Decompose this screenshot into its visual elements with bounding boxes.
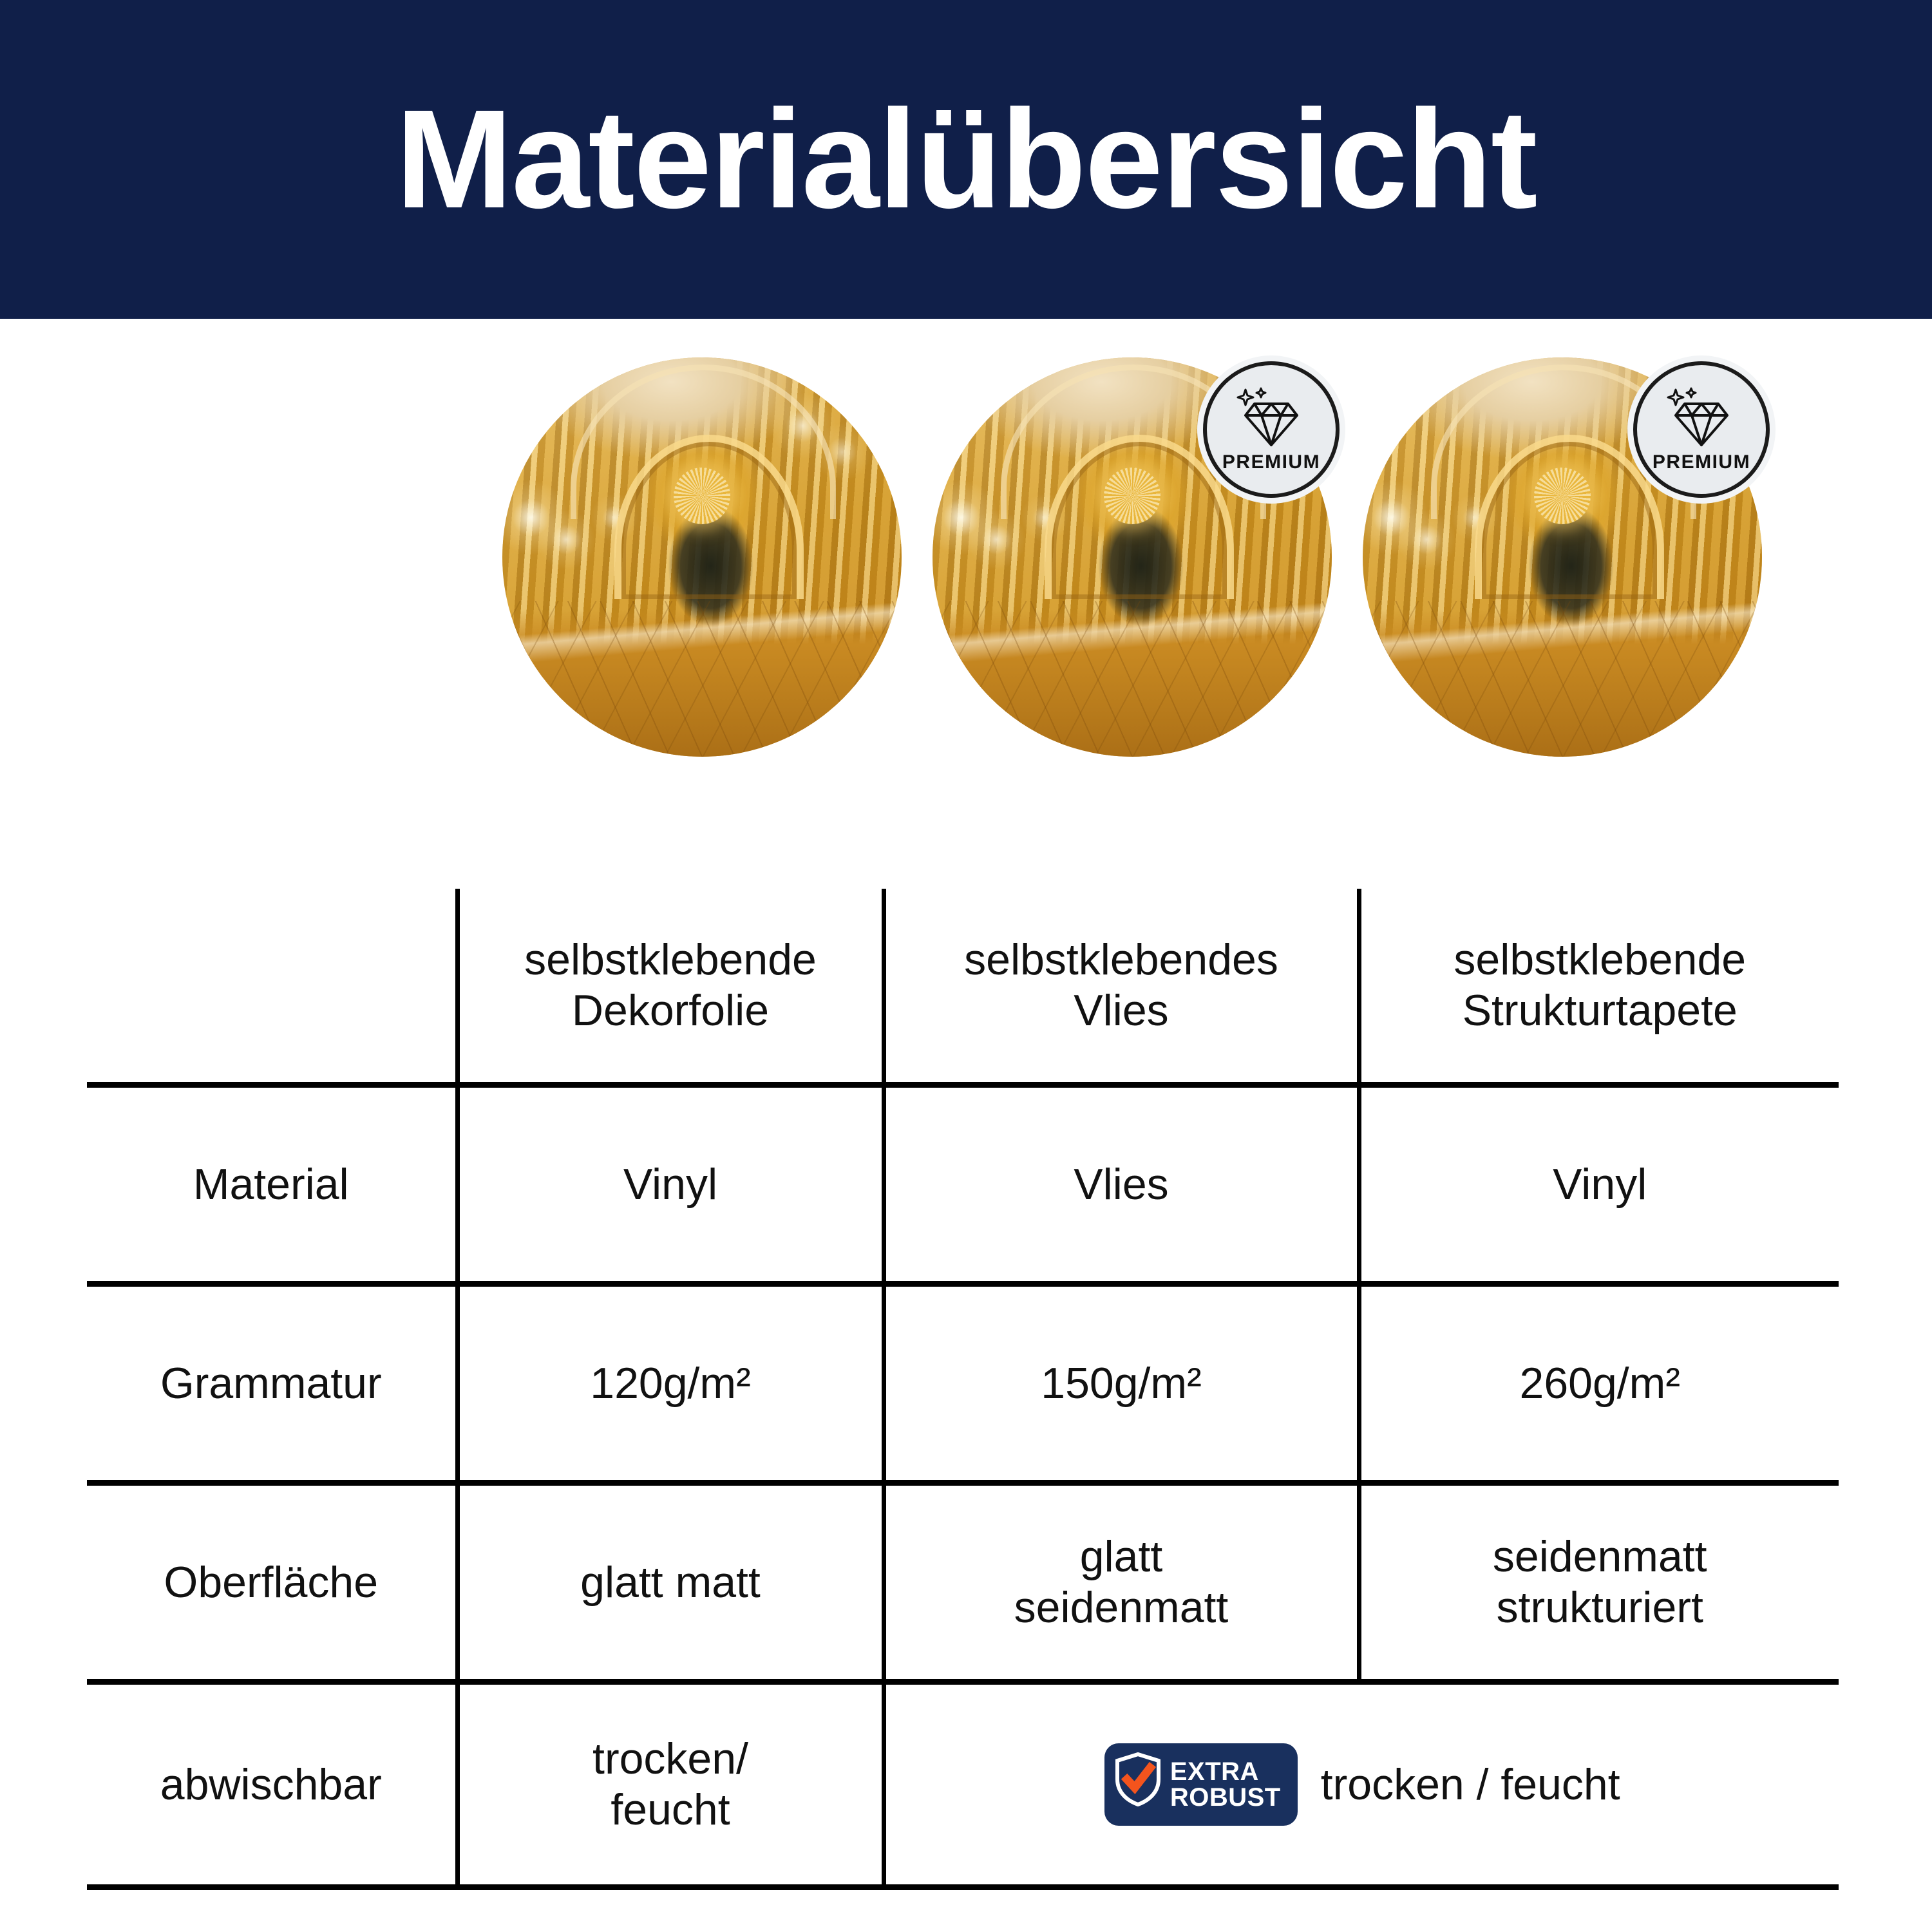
material-comparison-table: selbstklebende Dekorfolie selbstklebende… — [87, 889, 1839, 1890]
cell-oberflaeche-strukturtapete: seidenmatt strukturiert — [1359, 1483, 1839, 1682]
sunburst-medallion-icon — [674, 468, 730, 524]
palace-interior-image — [502, 357, 902, 757]
header-cell-empty — [87, 889, 457, 1085]
value-line-2: seidenmatt — [886, 1582, 1357, 1633]
header-line-2: Vlies — [895, 985, 1348, 1036]
cell-material-dekorfolie: Vinyl — [457, 1085, 884, 1284]
diamond-icon — [1235, 387, 1307, 449]
premium-badge-strukturtapete: PREMIUM — [1633, 361, 1770, 498]
extra-robust-badge: EXTRA ROBUST — [1104, 1743, 1298, 1826]
swatch-dekorfolie[interactable] — [502, 357, 902, 757]
value-line-2: feucht — [460, 1785, 882, 1835]
header-line-1: selbstklebendes — [895, 934, 1348, 985]
robust-line-1: EXTRA — [1170, 1759, 1281, 1785]
value-line-2: strukturiert — [1361, 1582, 1839, 1633]
extra-robust-label: EXTRA ROBUST — [1170, 1759, 1281, 1810]
table-row-oberflaeche: Oberfläche glatt matt glatt seidenmatt s… — [87, 1483, 1839, 1682]
header-cell-strukturtapete: selbstklebende Strukturtapete — [1359, 889, 1839, 1085]
premium-badge-vlies: PREMIUM — [1203, 361, 1340, 498]
row-label-grammatur: Grammatur — [87, 1284, 457, 1483]
value-line-1: trocken/ — [460, 1734, 882, 1785]
robust-line-2: ROBUST — [1170, 1785, 1281, 1810]
row-label-oberflaeche: Oberfläche — [87, 1483, 457, 1682]
header-line-1: selbstklebende — [469, 934, 873, 985]
cell-material-strukturtapete: Vinyl — [1359, 1085, 1839, 1284]
header-cell-vlies: selbstklebendes Vlies — [884, 889, 1359, 1085]
table-row-abwischbar: abwischbar trocken/ feucht — [87, 1682, 1839, 1888]
header-cell-dekorfolie: selbstklebende Dekorfolie — [457, 889, 884, 1085]
value-line-1: seidenmatt — [1361, 1531, 1839, 1582]
diamond-icon — [1665, 387, 1738, 449]
premium-label: PREMIUM — [1222, 453, 1320, 472]
cell-abwischbar-dekorfolie: trocken/ feucht — [457, 1682, 884, 1888]
page-header: Materialübersicht — [0, 0, 1932, 319]
header-line-1: selbstklebende — [1370, 934, 1830, 985]
sunburst-medallion-icon — [1104, 468, 1160, 524]
header-line-2: Dekorfolie — [469, 985, 873, 1036]
cell-grammatur-vlies: 150g/m² — [884, 1284, 1359, 1483]
cell-oberflaeche-vlies: glatt seidenmatt — [884, 1483, 1359, 1682]
shield-check-icon — [1115, 1752, 1161, 1817]
cell-grammatur-dekorfolie: 120g/m² — [457, 1284, 884, 1483]
cell-abwischbar-vlies-strukturtapete: EXTRA ROBUST trocken / feucht — [884, 1682, 1839, 1888]
cell-grammatur-strukturtapete: 260g/m² — [1359, 1284, 1839, 1483]
page-title: Materialübersicht — [395, 90, 1536, 230]
value-abwischbar-trocken-feucht: trocken / feucht — [1321, 1759, 1620, 1810]
premium-label: PREMIUM — [1653, 453, 1750, 472]
table-header-row: selbstklebende Dekorfolie selbstklebende… — [87, 889, 1839, 1085]
table-row-material: Material Vinyl Vlies Vinyl — [87, 1085, 1839, 1284]
material-swatch-strip: PREMIUM PREMIUM — [0, 351, 1932, 776]
row-label-material: Material — [87, 1085, 457, 1284]
header-line-2: Strukturtapete — [1370, 985, 1830, 1036]
value-line-1: glatt — [886, 1531, 1357, 1582]
cell-oberflaeche-dekorfolie: glatt matt — [457, 1483, 884, 1682]
cell-material-vlies: Vlies — [884, 1085, 1359, 1284]
sunburst-medallion-icon — [1534, 468, 1591, 524]
row-label-abwischbar: abwischbar — [87, 1682, 457, 1888]
table-row-grammatur: Grammatur 120g/m² 150g/m² 260g/m² — [87, 1284, 1839, 1483]
